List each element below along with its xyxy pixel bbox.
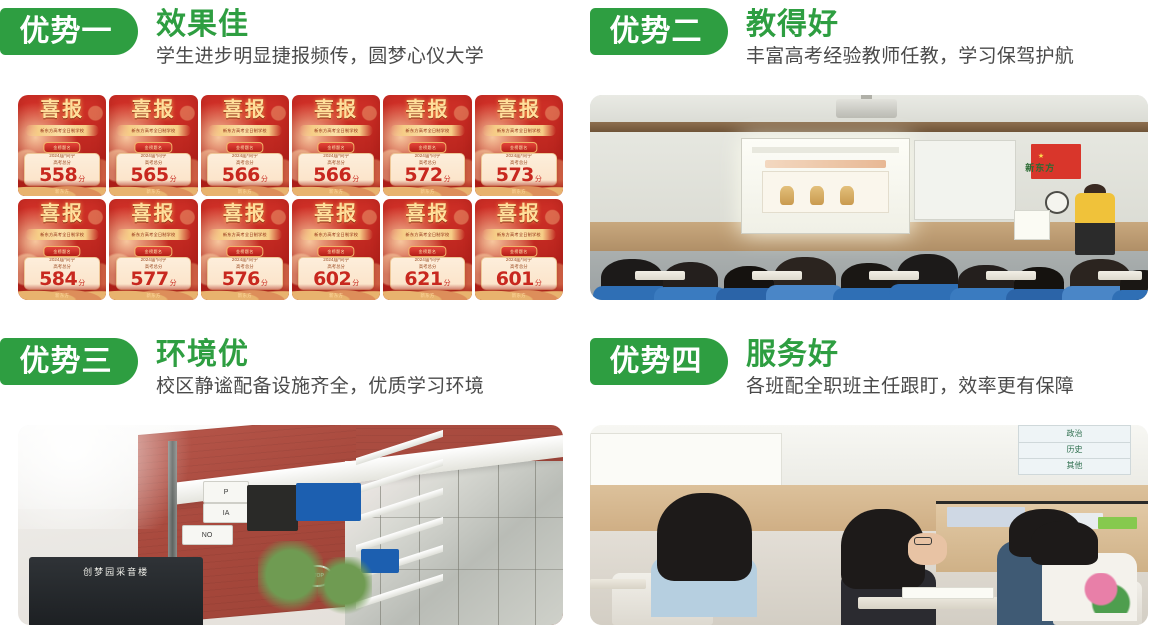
shelter-sign-text: 创梦园采音楼 [29,565,203,578]
certificate-heading: 喜报 [383,203,471,223]
certificate-school: 新东方高考全日制学校 [482,125,556,136]
certificate-heading: 喜报 [475,99,563,119]
certificate-school: 新东方高考全日制学校 [25,125,99,136]
certificate-heading: 喜报 [475,203,563,223]
certificate-school: 新东方高考全日制学校 [390,229,464,240]
flag-star-icon: ★ [1038,153,1044,160]
advantage-card-1: 优势一 效果佳 学生进步明显捷报频传，圆梦心仪大学 喜报新东方高考全日制学校金榜… [0,0,580,330]
student-desk [869,271,919,280]
mullion [458,461,459,625]
book-stack [1098,517,1137,529]
certificate-brand: 新东方 [201,189,289,195]
certificate-ribbon: 金榜题名 [226,246,263,257]
certificate-heading: 喜报 [109,99,197,119]
certificate-student: 2024届*同学 [49,153,75,159]
certificate-heading: 喜报 [292,203,380,223]
certificate-card: 喜报新东方高考全日制学校金榜题名2024届*同学高考总分565分新东方 [109,95,197,196]
certificate-ribbon: 金榜题名 [226,142,263,153]
certificate-heading: 喜报 [18,99,106,119]
slide-figure-1 [780,186,794,204]
ceiling-beam [590,122,1148,132]
advantage-header-1: 优势一 效果佳 学生进步明显捷报频传，圆梦心仪大学 [0,0,580,69]
certificate-ribbon: 金榜题名 [43,142,80,153]
certificate-school: 新东方高考全日制学校 [208,125,282,136]
subject-chart-row: 其他 [1019,458,1131,475]
certificate-school: 新东方高考全日制学校 [208,229,282,240]
shirt-print [1081,573,1131,613]
certificate-ribbon: 金榜题名 [317,142,354,153]
student-uniform [1112,290,1148,300]
advantage-badge-2: 优势二 [590,8,728,55]
subject-chart-row: 政治 [1019,426,1131,443]
certificate-student: 2024届*同学 [49,257,75,263]
certificate-ribbon: 金榜题名 [500,142,537,153]
advantage-text-2: 教得好 丰富高考经验教师任教，学习保驾护航 [746,8,1074,69]
certificate-brand: 新东方 [383,189,471,195]
certificate-student: 2024届*同学 [415,153,441,159]
certificate-ribbon: 金榜题名 [43,246,80,257]
student-desk [1098,271,1143,280]
whiteboard [914,140,1016,220]
certificate-card: 喜报新东方高考全日制学校金榜题名2024届*同学高考总分566分新东方 [201,95,289,196]
student-desk [752,271,802,280]
student-hair [657,493,752,581]
advantage-subtitle-1: 学生进步明显捷报频传，圆梦心仪大学 [156,45,484,70]
advantage-title-1: 效果佳 [156,8,484,42]
certificate-student: 2024届*同学 [141,153,167,159]
slide-toolbar [752,147,899,154]
certificate-brand: 新东方 [109,293,197,299]
advantage-subtitle-4: 各班配全职班主任跟盯，效率更有保障 [746,375,1074,400]
certificate-school: 新东方高考全日制学校 [390,125,464,136]
stair-flight [356,516,443,551]
mullion [535,461,536,625]
slide-figure-3 [840,186,854,204]
slide-title-band [765,160,886,168]
certificate-heading: 喜报 [292,99,380,119]
certificate-brand: 新东方 [475,189,563,195]
certificate-school: 新东方高考全日制学校 [116,125,190,136]
certificate-student: 2024届*同学 [415,257,441,263]
tree [318,557,373,625]
certificate-student: 2024届*同学 [506,257,532,263]
study-room-photo: 政治历史其他 [590,425,1148,625]
certificate-school: 新东方高考全日制学校 [116,229,190,240]
certificate-student: 2024届*同学 [506,153,532,159]
certificate-brand: 新东方 [475,293,563,299]
certificate-school: 新东方高考全日制学校 [482,229,556,240]
certificate-heading: 喜报 [201,99,289,119]
certificate-student: 2024届*同学 [232,257,258,263]
advantage-subtitle-2: 丰富高考经验教师任教，学习保驾护航 [746,45,1074,70]
advantages-grid: 优势一 效果佳 学生进步明显捷报频传，圆梦心仪大学 喜报新东方高考全日制学校金榜… [0,0,1158,635]
certificate-heading: 喜报 [201,203,289,223]
advantage-card-4: 优势四 服务好 各班配全职班主任跟盯，效率更有保障 政治历史其他 [580,330,1158,635]
certificate-student: 2024届*同学 [323,257,349,263]
slide-body [762,171,889,213]
certificate-ribbon: 金榜题名 [409,142,446,153]
wall-brand-logo: 新东方 [1025,161,1055,174]
stair-flight [356,488,443,523]
slide-figure-2 [810,186,824,204]
desk [590,579,646,589]
certificate-card: 喜报新东方高考全日制学校金榜题名2024届*同学高考总分566分新东方 [292,95,380,196]
subject-chart-row: 历史 [1019,442,1131,459]
advantage-header-3: 优势三 环境优 校区静谧配备设施齐全，优质学习环境 [0,330,580,399]
certificate-brand: 新东方 [18,189,106,195]
certificate-card: 喜报新东方高考全日制学校金榜题名2024届*同学高考总分558分新东方 [18,95,106,196]
advantage-title-4: 服务好 [746,338,1074,372]
certificate-card: 喜报新东方高考全日制学校金榜题名2024届*同学高考总分573分新东方 [475,95,563,196]
advantage-badge-3: 优势三 [0,338,138,385]
certificate-student: 2024届*同学 [323,153,349,159]
certificate-heading: 喜报 [109,203,197,223]
certificate-card: 喜报新东方高考全日制学校金榜题名2024届*同学高考总分602分新东方 [292,199,380,300]
glasses-icon [914,537,932,545]
advantage-header-4: 优势四 服务好 各班配全职班主任跟盯，效率更有保障 [590,330,1158,399]
student-hair [1031,521,1098,565]
blue-direction-sign [296,483,361,521]
certificate-student: 2024届*同学 [141,257,167,263]
projector-icon [836,99,897,117]
certificate-school: 新东方高考全日制学校 [299,125,373,136]
certificate-ribbon: 金榜题名 [135,142,172,153]
student-desk [635,271,685,280]
certificate-card: 喜报新东方高考全日制学校金榜题名2024届*同学高考总分577分新东方 [109,199,197,300]
certificate-school: 新东方高考全日制学校 [299,229,373,240]
certificate-card: 喜报新东方高考全日制学校金榜题名2024届*同学高考总分621分新东方 [383,199,471,300]
certificate-card: 喜报新东方高考全日制学校金榜题名2024届*同学高考总分601分新东方 [475,199,563,300]
advantage-title-2: 教得好 [746,8,1074,42]
lens-flare [18,425,247,529]
advantage-text-4: 服务好 各班配全职班主任跟盯，效率更有保障 [746,338,1074,399]
subject-chart: 政治历史其他 [1018,425,1132,475]
advantage-title-3: 环境优 [156,338,484,372]
certificate-ribbon: 金榜题名 [500,246,537,257]
tree [258,541,323,625]
certificate-wall: 喜报新东方高考全日制学校金榜题名2024届*同学高考总分558分新东方喜报新东方… [18,95,563,300]
certificate-brand: 新东方 [292,293,380,299]
student-desk [986,271,1036,280]
dark-sign-panel [247,485,298,531]
certificate-ribbon: 金榜题名 [317,246,354,257]
advantage-badge-4: 优势四 [590,338,728,385]
advantage-text-3: 环境优 校区静谧配备设施齐全，优质学习环境 [156,338,484,399]
campus-building-photo: P IA NO STOP 创梦园采音楼 [18,425,563,625]
classroom-photo: ★ 新东方 [590,95,1148,300]
certificate-heading: 喜报 [383,99,471,119]
mullion [498,461,499,625]
certificate-student: 2024届*同学 [232,153,258,159]
certificate-card: 喜报新东方高考全日制学校金榜题名2024届*同学高考总分584分新东方 [18,199,106,300]
certificate-heading: 喜报 [18,203,106,223]
certificate-school: 新东方高考全日制学校 [25,229,99,240]
certificate-brand: 新东方 [201,293,289,299]
projection-screen [741,138,910,234]
certificate-card: 喜报新东方高考全日制学校金榜题名2024届*同学高考总分576分新东方 [201,199,289,300]
stair-flight [356,459,443,494]
certificate-brand: 新东方 [109,189,197,195]
advantage-badge-1: 优势一 [0,8,138,55]
bus-shelter: 创梦园采音楼 [29,557,203,625]
certificate-brand: 新东方 [292,189,380,195]
certificate-ribbon: 金榜题名 [409,246,446,257]
advantages-page: 优势一 效果佳 学生进步明显捷报频传，圆梦心仪大学 喜报新东方高考全日制学校金榜… [0,0,1158,635]
students-row [590,234,1148,300]
advantage-subtitle-3: 校区静谧配备设施齐全，优质学习环境 [156,375,484,400]
certificate-ribbon: 金榜题名 [135,246,172,257]
whiteboard [590,433,782,487]
advantage-text-1: 效果佳 学生进步明显捷报频传，圆梦心仪大学 [156,8,484,69]
certificate-brand: 新东方 [383,293,471,299]
certificate-card: 喜报新东方高考全日制学校金榜题名2024届*同学高考总分572分新东方 [383,95,471,196]
advantage-card-3: 优势三 环境优 校区静谧配备设施齐全，优质学习环境 [0,330,580,635]
advantage-card-2: 优势二 教得好 丰富高考经验教师任教，学习保驾护航 [580,0,1158,330]
certificate-brand: 新东方 [18,293,106,299]
paper-stack [902,587,993,599]
advantage-header-2: 优势二 教得好 丰富高考经验教师任教，学习保驾护航 [590,0,1158,69]
